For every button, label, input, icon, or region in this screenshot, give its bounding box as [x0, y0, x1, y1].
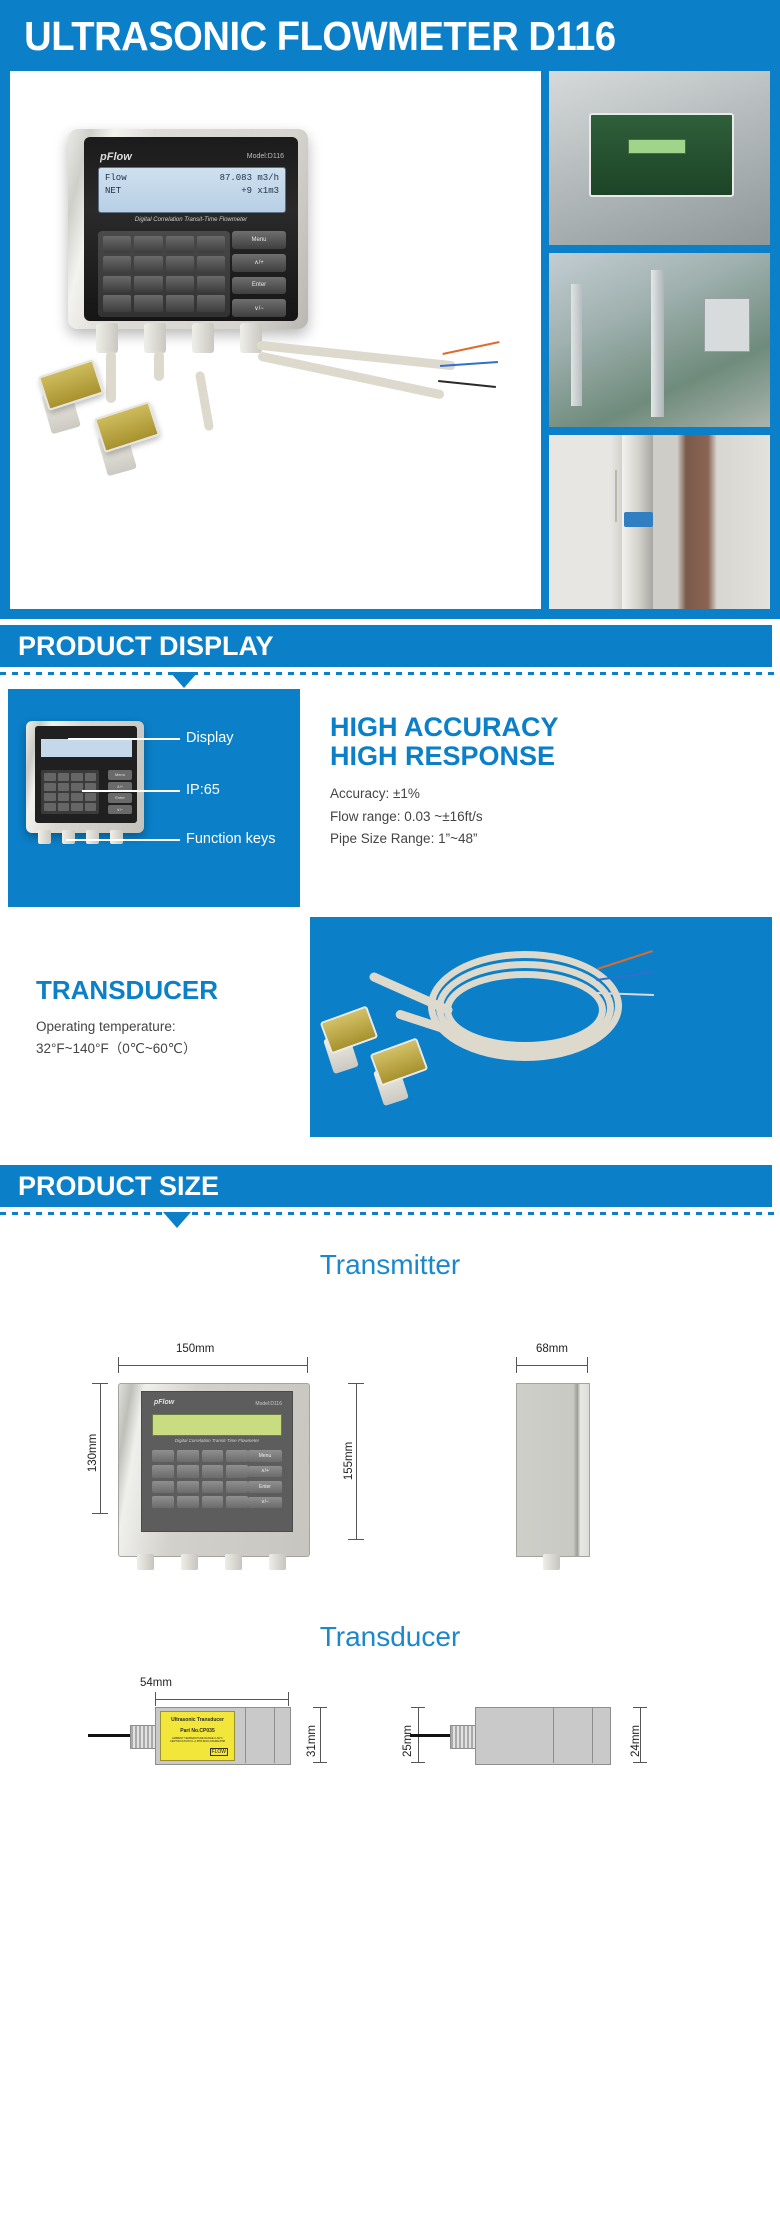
- hero-thumbnail-column: [549, 71, 770, 609]
- drawing-key-enter: Enter: [248, 1481, 282, 1493]
- key-enter[interactable]: Enter: [232, 277, 286, 295]
- transducer-yellow-label: Ultrasonic Transducer Part No.CP035 AMBI…: [160, 1711, 235, 1761]
- transducer-spec-temp-label: Operating temperature:: [36, 1016, 300, 1038]
- wire-orange: [597, 950, 653, 970]
- drawing-keypad: [152, 1450, 248, 1508]
- section-title: PRODUCT SIZE: [0, 1171, 219, 1202]
- key-up[interactable]: ∧/+: [232, 254, 286, 272]
- device-body: pFlow Model:D116 Flow 87.083 m3/h NET +9…: [68, 129, 308, 329]
- callout-ip65: IP:65: [186, 782, 220, 798]
- mini-lcd-screen: [41, 739, 132, 757]
- spec-accuracy: Accuracy: ±1%: [330, 783, 772, 805]
- label-title: Ultrasonic Transducer: [161, 1717, 234, 1723]
- thumbnail-pipe-installation: [549, 253, 770, 427]
- drawing-function-keys: Menu ∧/+ Enter ∨/−: [248, 1450, 282, 1508]
- device-brand-logo: pFlow: [100, 151, 132, 163]
- callout-leader-ip65: [82, 790, 180, 792]
- lcd-flow-label: Flow: [105, 172, 127, 185]
- transmitter-dimension-drawing: 150mm 130mm 155mm 68mm pFlow Model:D116 …: [0, 1287, 780, 1587]
- thumb-lcd: [628, 139, 687, 154]
- thumbnail-wall-mounted-transducer: [549, 435, 770, 609]
- transducer-block: TRANSDUCER Operating temperature: 32°F~1…: [0, 907, 780, 1137]
- dim-transducer-side-left: 25mm: [402, 1725, 414, 1757]
- cable-gland: [181, 1554, 198, 1570]
- transducer-photo-panel: [310, 917, 772, 1137]
- transducer-probe: [94, 401, 160, 453]
- mini-function-keys: Menu ∧/+ Enter ∨/−: [108, 770, 132, 814]
- section-title: PRODUCT DISPLAY: [0, 631, 274, 662]
- callout-leader-function-keys: [66, 839, 180, 841]
- sensor-cable: [154, 351, 164, 381]
- device-function-keys[interactable]: Menu ∧/+ Enter ∨/−: [232, 231, 286, 317]
- label-fine-print: AMBIENT TEMPERATURE RANGE:0~60℃ CERTIFIC…: [161, 1737, 234, 1743]
- drawing-model-text: Model:D116: [255, 1401, 282, 1407]
- transducer-dimension-drawing: 54mm Ultrasonic Transducer Part No.CP035…: [0, 1659, 780, 1869]
- thumbnail-open-enclosure-pcb: [549, 71, 770, 245]
- device-numeric-keypad[interactable]: [98, 231, 230, 317]
- drawing-key-down: ∨/−: [248, 1497, 282, 1509]
- label-part-number: Part No.CP035: [161, 1728, 234, 1734]
- wire-orange: [442, 341, 499, 355]
- key-down[interactable]: ∨/−: [232, 299, 286, 317]
- cable-gland: [192, 323, 214, 353]
- hero-banner: ULTRASONIC FLOWMETER D116: [0, 0, 780, 71]
- cable-gland: [144, 323, 166, 353]
- cable-gland: [225, 1554, 242, 1570]
- transducer-clamp: [624, 512, 653, 528]
- callout-display: Display: [186, 730, 234, 746]
- key-menu[interactable]: Menu: [232, 231, 286, 249]
- mini-key-enter: Enter: [108, 793, 132, 803]
- section-bar: PRODUCT DISPLAY: [0, 625, 772, 667]
- sensor-cable: [195, 371, 214, 432]
- device-subtitle: Digital Correlation Transit-Time Flowmet…: [84, 217, 298, 223]
- hero-image-grid: pFlow Model:D116 Flow 87.083 m3/h NET +9…: [0, 71, 780, 619]
- transducer-heading: Transducer: [0, 1587, 780, 1659]
- transducer-body-side-view: [475, 1707, 611, 1765]
- dim-front-width: 150mm: [176, 1343, 214, 1355]
- sensor-cable: [106, 351, 116, 403]
- transducer-probe: [320, 1005, 379, 1054]
- section-dashed-rule: [0, 1212, 780, 1215]
- spec-title-line-1: HIGH ACCURACY: [330, 713, 772, 742]
- device-lcd-screen: Flow 87.083 m3/h NET +9 x1m3: [98, 167, 286, 213]
- drawing-lcd-screen: [152, 1414, 282, 1436]
- drawing-key-menu: Menu: [248, 1450, 282, 1462]
- callout-leader-display: [68, 738, 180, 740]
- dim-transducer-height: 31mm: [306, 1725, 318, 1757]
- spec-flow-range: Flow range: 0.03 ~±16ft/s: [330, 806, 772, 828]
- transducer-spec-block: TRANSDUCER Operating temperature: 32°F~1…: [8, 917, 300, 1137]
- product-display-block: Menu ∧/+ Enter ∨/− Display IP:65 Functio: [0, 675, 780, 907]
- transducer-title: TRANSDUCER: [36, 975, 300, 1006]
- hero-main-product-photo: pFlow Model:D116 Flow 87.083 m3/h NET +9…: [10, 71, 541, 609]
- cable-gland: [269, 1554, 286, 1570]
- page-title: ULTRASONIC FLOWMETER D116: [0, 16, 725, 57]
- spec-title-line-2: HIGH RESPONSE: [330, 742, 772, 771]
- section-bar: PRODUCT SIZE: [0, 1165, 772, 1207]
- transmitter-front-view: pFlow Model:D116 Digital Correlation Tra…: [118, 1383, 310, 1557]
- drawing-brand-logo: pFlow: [154, 1399, 174, 1406]
- display-photo-panel: Menu ∧/+ Enter ∨/− Display IP:65 Functio: [8, 689, 300, 907]
- mini-key-down: ∨/−: [108, 805, 132, 815]
- mini-key-menu: Menu: [108, 770, 132, 780]
- transducer-spec-temp-value: 32°F~140°F（0℃~60℃）: [36, 1038, 300, 1060]
- transmitter-heading: Transmitter: [0, 1215, 780, 1287]
- device-model-text: Model:D116: [247, 153, 284, 160]
- lcd-net-label: NET: [105, 185, 121, 198]
- cable-gland: [96, 323, 118, 353]
- dim-transducer-length: 54mm: [140, 1677, 172, 1689]
- lcd-net-value: +9 x1m3: [241, 185, 279, 198]
- mini-keypad: [41, 770, 99, 814]
- transducer-probe: [38, 359, 104, 411]
- device-front-panel: pFlow Model:D116 Flow 87.083 m3/h NET +9…: [84, 137, 298, 321]
- flowmeter-device-illustration: pFlow Model:D116 Flow 87.083 m3/h NET +9…: [68, 129, 308, 329]
- spec-list: Accuracy: ±1% Flow range: 0.03 ~±16ft/s …: [330, 783, 772, 850]
- flow-direction-tag: FLOW: [210, 1748, 228, 1756]
- callout-function-keys: Function keys: [186, 831, 275, 847]
- transmitter-side-view: [516, 1383, 590, 1557]
- drawing-subtitle: Digital Correlation Transit-Time Flowmet…: [142, 1438, 292, 1443]
- cable-gland: [137, 1554, 154, 1570]
- high-accuracy-spec-block: HIGH ACCURACY HIGH RESPONSE Accuracy: ±1…: [310, 689, 772, 907]
- transducer-probe: [370, 1037, 429, 1086]
- cable-gland: [543, 1554, 560, 1570]
- dim-side-width: 68mm: [536, 1343, 568, 1355]
- product-detail-page: ULTRASONIC FLOWMETER D116 pFlow Model:D1…: [0, 0, 780, 1869]
- drawing-key-up: ∧/+: [248, 1466, 282, 1478]
- section-product-display-header: PRODUCT DISPLAY: [0, 625, 780, 675]
- spec-pipe-size-range: Pipe Size Range: 1”~48”: [330, 828, 772, 850]
- lcd-flow-value: 87.083 m3/h: [220, 172, 279, 185]
- wire-black: [438, 380, 496, 388]
- transducer-wire: [88, 1734, 134, 1737]
- section-pointer-triangle: [163, 1212, 191, 1228]
- section-dashed-rule: [0, 672, 780, 675]
- section-product-size-header: PRODUCT SIZE: [0, 1165, 780, 1215]
- section-pointer-triangle: [170, 672, 198, 688]
